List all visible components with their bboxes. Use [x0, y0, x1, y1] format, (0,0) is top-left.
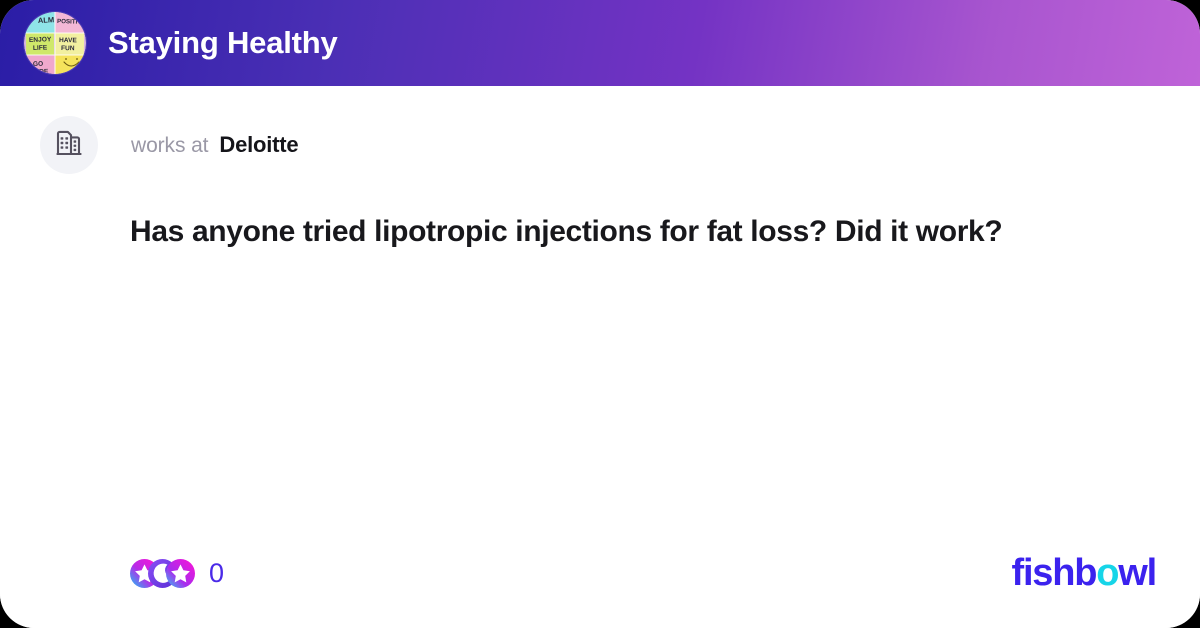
office-building-icon [53, 127, 85, 164]
author-meta: works at Deloitte [131, 132, 298, 158]
works-at-label: works at [131, 134, 208, 158]
author-row: works at Deloitte [0, 86, 1200, 174]
post-question-text: Has anyone tried lipotropic injections f… [130, 212, 1160, 252]
group-avatar[interactable]: ALM POSITIV ENJOY LIFE HAVE FUN GO TSIDE [24, 12, 86, 74]
brand-text-part1: fishb [1011, 554, 1096, 592]
fishbowl-logo: fishb o wl [1011, 554, 1156, 592]
group-title: Staying Healthy [108, 25, 338, 61]
svg-text:POSITIV: POSITIV [57, 18, 83, 26]
svg-text:FUN: FUN [61, 45, 75, 52]
reactions-group[interactable]: 0 [130, 559, 224, 588]
brand-text-o: o [1096, 554, 1118, 592]
svg-text:GO: GO [33, 61, 44, 68]
post-body: works at Deloitte Has anyone tried lipot… [0, 86, 1200, 628]
author-avatar [40, 116, 98, 174]
svg-text:HAVE: HAVE [59, 37, 78, 44]
reaction-icon-stack[interactable] [130, 559, 195, 588]
company-name[interactable]: Deloitte [219, 132, 298, 158]
post-footer: 0 fishb o wl [0, 518, 1200, 628]
post-card: ALM POSITIV ENJOY LIFE HAVE FUN GO TSIDE [0, 0, 1200, 628]
svg-text:ALM: ALM [38, 15, 55, 25]
svg-text:LIFE: LIFE [33, 44, 48, 52]
reaction-count: 0 [209, 560, 224, 587]
star-reaction-icon-2[interactable] [166, 559, 195, 588]
group-header: ALM POSITIV ENJOY LIFE HAVE FUN GO TSIDE [0, 0, 1200, 86]
svg-text:ENJOY: ENJOY [29, 36, 52, 44]
brand-text-part2: wl [1118, 554, 1156, 592]
svg-text:TSIDE: TSIDE [29, 68, 49, 74]
